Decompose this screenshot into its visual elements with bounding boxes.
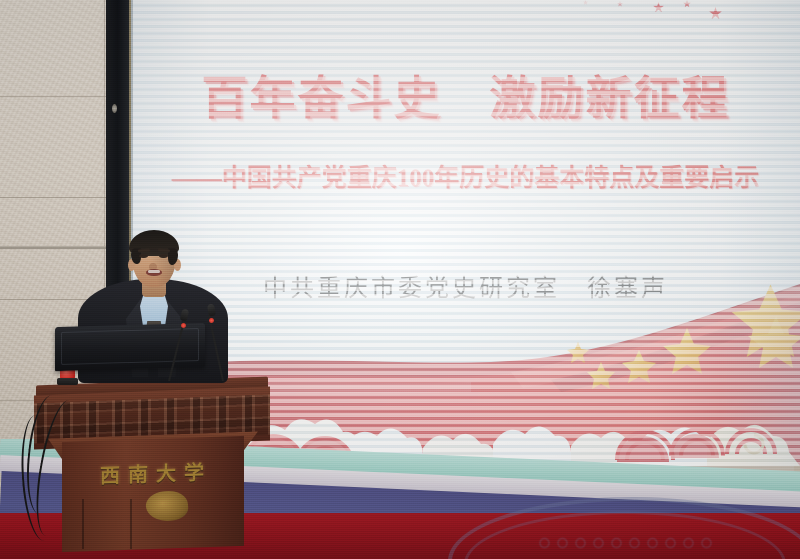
eye-left [139, 254, 148, 258]
plaque-char: 南 [128, 458, 148, 488]
microphone-indicator [181, 323, 186, 328]
eye-right [159, 254, 168, 258]
slide-presenter: 中共重庆市委党史研究室 徐塞声 [131, 268, 800, 303]
podium-panel-line [130, 499, 132, 549]
star-icon [683, 0, 691, 8]
star-icon [653, 2, 664, 13]
slide-subtitle: ——中国共产党重庆100年历史的基本特点及重要启示 [131, 158, 800, 194]
podium-panel-line [82, 499, 84, 549]
star-icon [709, 7, 722, 20]
carpet-emblem-text: 〇〇〇〇〇〇〇〇〇〇 [464, 535, 794, 551]
plaque-char: 学 [184, 456, 204, 486]
plaque-char: 西 [100, 459, 120, 489]
jamb-highlight [112, 104, 117, 113]
slide-title: 百年奋斗史 激励新征程 [131, 62, 800, 128]
star-icon [583, 0, 588, 5]
plaque-char: 大 [156, 457, 176, 487]
microphone-indicator [209, 318, 214, 323]
star-icon [617, 1, 623, 7]
podium-name-plaque: 西 南 大 学 [76, 454, 228, 489]
mouth [146, 269, 162, 276]
lecture-photograph: 百年奋斗史 激励新征程 ——中国共产党重庆100年历史的基本特点及重要启示 中共… [0, 0, 800, 559]
